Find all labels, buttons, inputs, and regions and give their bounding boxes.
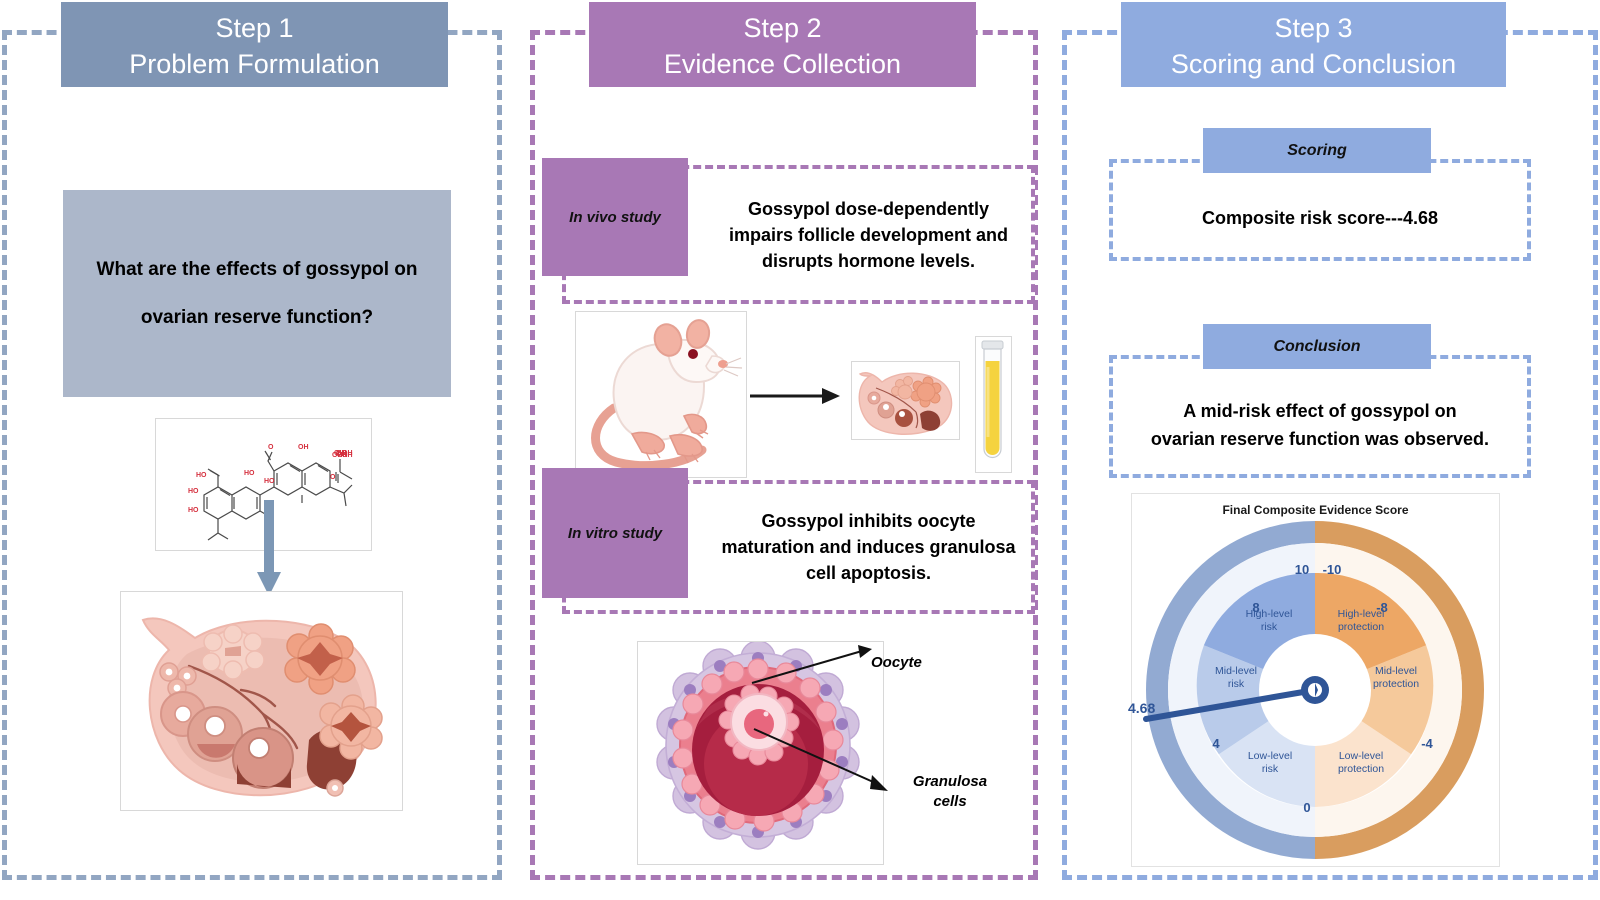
down-arrow-icon — [255, 500, 283, 600]
svg-text:HO: HO — [264, 478, 275, 485]
tick-10: 10 — [1295, 562, 1309, 577]
step3-header-line1: Step 3 — [1121, 10, 1506, 46]
in-vitro-tag: In vitro study — [542, 468, 688, 598]
label-high-level-protection-line2: protection — [1338, 621, 1384, 633]
gauge-chart-title: Final Composite Evidence Score — [1132, 503, 1499, 517]
conclusion-tag: Conclusion — [1203, 324, 1431, 369]
tick-8: 8 — [1252, 600, 1259, 615]
gauge-chart-card: Final Composite Evidence Score — [1131, 493, 1500, 867]
label-mid-level-risk-line2: risk — [1228, 678, 1245, 690]
step3-header: Step 3 Scoring and Conclusion — [1121, 2, 1506, 87]
step3-header-line2: Scoring and Conclusion — [1121, 46, 1506, 82]
granulosa-cells-label: Granulosa cells — [905, 772, 995, 812]
label-high-level-risk-line2: risk — [1261, 621, 1278, 633]
svg-text:HO: HO — [188, 488, 199, 495]
research-question-box: What are the effects of gossypol on ovar… — [63, 190, 451, 397]
label-low-level-risk-line2: risk — [1262, 763, 1279, 775]
research-question-line1: What are the effects of gossypol on — [97, 246, 418, 294]
ovary-small-illustration — [852, 362, 957, 437]
ovary-illustration-box — [120, 591, 403, 811]
label-mid-level-protection-line1: Mid-level — [1375, 665, 1417, 677]
step1-header-line2: Problem Formulation — [61, 46, 448, 82]
composite-evidence-score-gauge: High-level risk Mid-level risk Low-level… — [1132, 516, 1497, 864]
research-question-line2: ovarian reserve function? — [97, 294, 418, 342]
in-vitro-evidence-text: Gossypol inhibits oocyte maturation and … — [712, 484, 1025, 610]
conclusion-block: Conclusion A mid-risk effect of gossypol… — [1109, 355, 1531, 478]
oocyte-label: Oocyte — [871, 654, 922, 671]
research-question-text: What are the effects of gossypol on ovar… — [81, 246, 434, 342]
label-low-level-risk-line1: Low-level — [1248, 750, 1292, 762]
label-low-level-protection-line2: protection — [1338, 763, 1384, 775]
laboratory-rat-illustration — [576, 312, 744, 475]
serum-test-tube-illustration — [976, 337, 1009, 470]
scoring-block: Scoring Composite risk score---4.68 — [1109, 159, 1531, 261]
in-vitro-evidence-block: In vitro study Gossypol inhibits oocyte … — [562, 480, 1035, 614]
right-arrow-icon — [750, 385, 840, 407]
tick-0: 0 — [1303, 800, 1310, 815]
step1-header-line1: Step 1 — [61, 10, 448, 46]
label-mid-level-risk-line1: Mid-level — [1215, 665, 1257, 677]
svg-text:OH: OH — [298, 444, 309, 451]
evidence-appraisal-figure: Step 1 Problem Formulation What are the … — [0, 0, 1600, 900]
granulosa-callout-arrow — [752, 727, 902, 795]
ovary-cross-section-illustration — [121, 592, 400, 808]
gauge-value-label: 4.68 — [1128, 700, 1155, 716]
svg-text:HO: HO — [196, 472, 207, 479]
ovary-small-box — [851, 361, 960, 440]
rat-illustration-box — [575, 311, 747, 478]
tick-4: 4 — [1212, 736, 1220, 751]
in-vivo-evidence-block: In vivo study Gossypol dose-dependently … — [562, 165, 1035, 304]
step2-header: Step 2 Evidence Collection — [589, 2, 976, 87]
step1-header: Step 1 Problem Formulation — [61, 2, 448, 87]
svg-text:O: O — [268, 444, 274, 451]
oocyte-callout-arrow — [750, 645, 880, 685]
tick-neg8: -8 — [1376, 600, 1388, 615]
conclusion-line2: ovarian reserve function was observed. — [1151, 425, 1489, 453]
svg-text:HO: HO — [188, 507, 199, 514]
tick-neg10: -10 — [1323, 562, 1342, 577]
svg-text:O: O — [330, 474, 336, 481]
test-tube-box — [975, 336, 1012, 473]
svg-text:HO: HO — [244, 470, 255, 477]
step2-header-line1: Step 2 — [589, 10, 976, 46]
granulosa-label-line2: cells — [905, 792, 995, 812]
conclusion-line1: A mid-risk effect of gossypol on — [1151, 397, 1489, 425]
label-mid-level-protection-line2: protection — [1373, 678, 1419, 690]
conclusion-text: A mid-risk effect of gossypol on ovarian… — [1113, 375, 1527, 474]
in-vivo-evidence-text: Gossypol dose-dependently impairs follic… — [712, 169, 1025, 300]
label-low-level-protection-line1: Low-level — [1339, 750, 1383, 762]
scoring-text: Composite risk score---4.68 — [1113, 179, 1527, 257]
svg-text:OH: OH — [342, 450, 353, 457]
granulosa-label-line1: Granulosa — [905, 772, 995, 792]
scoring-tag: Scoring — [1203, 128, 1431, 173]
in-vivo-tag: In vivo study — [542, 158, 688, 276]
tick-neg4: -4 — [1421, 736, 1433, 751]
step2-header-line2: Evidence Collection — [589, 46, 976, 82]
